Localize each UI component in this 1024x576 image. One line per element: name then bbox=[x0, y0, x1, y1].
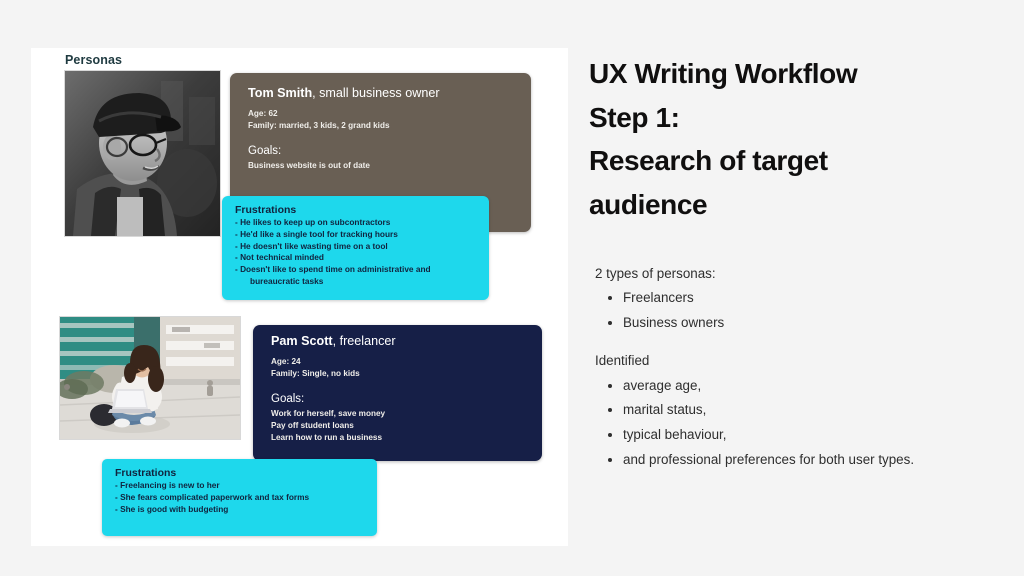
persona-goal-pam: Work for herself, save money bbox=[271, 408, 526, 420]
frustration-item: - He'd like a single tool for tracking h… bbox=[235, 229, 479, 241]
persona-name-tom: Tom Smith, small business owner bbox=[248, 87, 515, 101]
frustration-item: - Doesn't like to spend time on administ… bbox=[235, 264, 479, 288]
list-item: Business owners bbox=[623, 312, 989, 334]
list-item: average age, bbox=[623, 375, 989, 397]
persona-goal-pam: Pay off student loans bbox=[271, 420, 526, 432]
slide-title-personas: Personas bbox=[65, 53, 122, 67]
persona-goal-pam: Learn how to run a business bbox=[271, 432, 526, 444]
frustration-item: - Not technical minded bbox=[235, 252, 479, 264]
frustration-line-1: - Doesn't like to spend time on administ… bbox=[235, 264, 431, 274]
woman-with-laptop-photo-icon bbox=[60, 317, 240, 439]
persona-name-pam: Pam Scott, freelancer bbox=[271, 335, 526, 349]
frustration-line-2: bureaucratic tasks bbox=[240, 276, 479, 288]
page-title: UX Writing Workflow Step 1: Research of … bbox=[589, 52, 989, 227]
persona-goals-label-tom: Goals: bbox=[248, 145, 515, 157]
persona-age-pam: Age: 24 bbox=[271, 356, 526, 368]
persona-family-pam: Family: Single, no kids bbox=[271, 368, 526, 380]
list-item: typical behaviour, bbox=[623, 424, 989, 446]
frustrations-title-tom: Frustrations bbox=[235, 204, 479, 216]
persona-photo-tom bbox=[64, 70, 221, 237]
headline-line-2: Step 1: bbox=[589, 96, 989, 140]
frustration-item: - Freelancing is new to her bbox=[115, 480, 367, 492]
elderly-man-photo-icon bbox=[65, 71, 220, 236]
frustrations-title-pam: Frustrations bbox=[115, 467, 367, 479]
frustrations-box-tom: Frustrations - He likes to keep up on su… bbox=[222, 196, 489, 300]
personas-lead-text: 2 types of personas: bbox=[595, 263, 989, 285]
persona-goal-tom: Business website is out of date bbox=[248, 160, 515, 172]
frustration-item: - He doesn't like wasting time on a tool bbox=[235, 241, 479, 253]
list-item: Freelancers bbox=[623, 287, 989, 309]
persona-goals-label-pam: Goals: bbox=[271, 393, 526, 405]
persona-slide-panel: Personas bbox=[31, 48, 568, 546]
persona-photo-pam bbox=[59, 316, 241, 440]
persona-age-tom: Age: 62 bbox=[248, 108, 515, 120]
persona-types-list: Freelancers Business owners bbox=[589, 287, 989, 333]
list-item: marital status, bbox=[623, 399, 989, 421]
identified-list: average age, marital status, typical beh… bbox=[589, 375, 989, 471]
headline-line-3: Research of target bbox=[589, 139, 989, 183]
headline-line-4: audience bbox=[589, 183, 989, 227]
persona-family-tom: Family: married, 3 kids, 2 grand kids bbox=[248, 120, 515, 132]
right-text-column: UX Writing Workflow Step 1: Research of … bbox=[589, 52, 989, 473]
frustration-item: - She is good with budgeting bbox=[115, 504, 367, 516]
frustration-item: - She fears complicated paperwork and ta… bbox=[115, 492, 367, 504]
frustration-item: - He likes to keep up on subcontractors bbox=[235, 217, 479, 229]
headline-line-1: UX Writing Workflow bbox=[589, 52, 989, 96]
slide-screenshot-page: { "colors": { "page_background": "#f4f4f… bbox=[0, 0, 1024, 576]
persona-card-pam: Pam Scott, freelancer Age: 24 Family: Si… bbox=[253, 325, 542, 461]
body-copy: 2 types of personas: Freelancers Busines… bbox=[589, 263, 989, 471]
list-item: and professional preferences for both us… bbox=[623, 449, 955, 471]
frustrations-box-pam: Frustrations - Freelancing is new to her… bbox=[102, 459, 377, 536]
identified-lead-text: Identified bbox=[595, 350, 989, 372]
